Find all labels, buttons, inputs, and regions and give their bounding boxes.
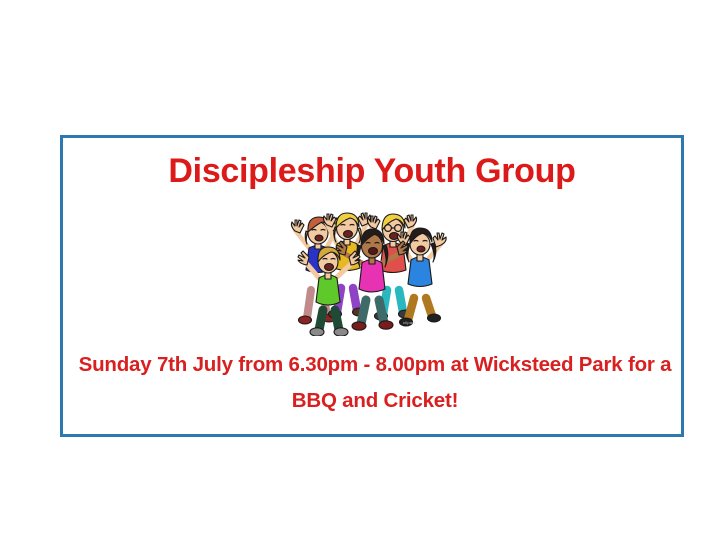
page-title: Discipleship Youth Group	[63, 150, 681, 192]
poster-frame: Discipleship Youth Group	[60, 135, 684, 437]
cheering-youth-group-clipart: clipart	[275, 206, 451, 336]
slide-canvas: Discipleship Youth Group	[0, 0, 720, 540]
event-details-text: Sunday 7th July from 6.30pm - 8.00pm at …	[77, 347, 673, 419]
clipart-watermark: clipart	[403, 320, 415, 325]
